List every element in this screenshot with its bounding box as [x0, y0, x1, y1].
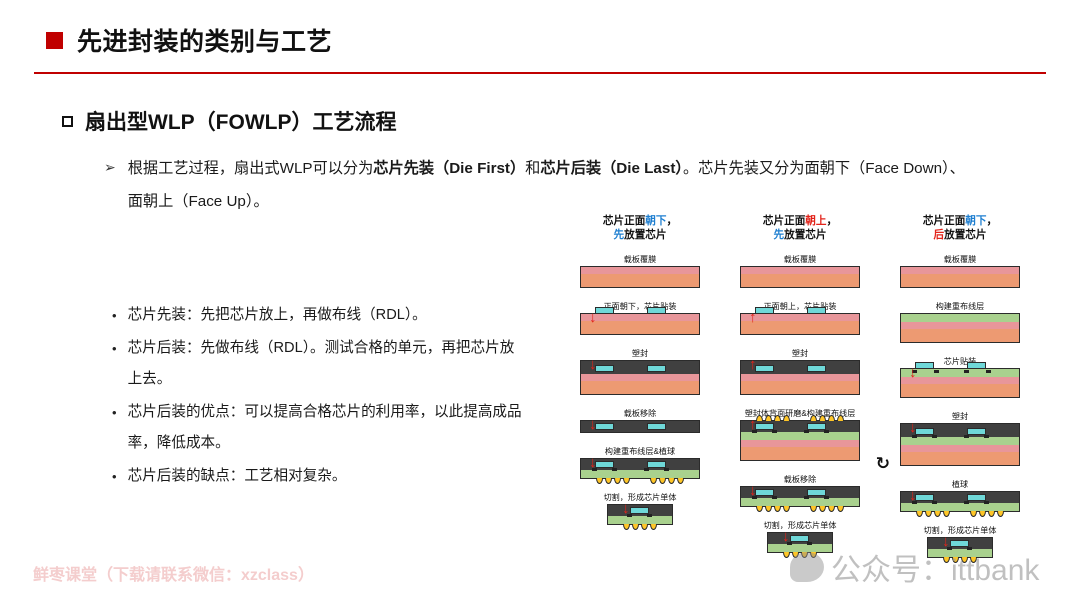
layer-green	[741, 498, 859, 506]
diagram-step: 塑封↑	[726, 348, 874, 395]
dot-bullet-icon: •	[112, 461, 117, 492]
die-block	[595, 461, 614, 468]
column-heading-line1: 芯片正面朝下，	[880, 214, 1040, 228]
layer-stack	[740, 266, 860, 288]
solder-ball-group	[650, 478, 684, 484]
step-label: 构建重布线层	[886, 301, 1034, 312]
die-block	[807, 423, 826, 430]
solder-ball-group	[623, 524, 657, 530]
solder-ball	[943, 511, 950, 517]
solder-ball	[837, 506, 844, 512]
layer-stack: ↓	[900, 491, 1020, 512]
layer-pink	[901, 322, 1019, 329]
die-block	[967, 428, 986, 435]
intro-span-1: 芯片先装（Die First）	[373, 160, 525, 177]
diagram-step: 正面朝上，芯片贴装↑	[726, 301, 874, 335]
die-pad	[932, 435, 937, 438]
dot-bullet-icon: •	[112, 333, 117, 395]
die-block	[755, 307, 774, 314]
layer-orange	[741, 447, 859, 460]
heading-segment: ，	[986, 215, 997, 227]
list-item-text: 芯片先装：先把芯片放上，再做布线（RDL）。	[128, 300, 427, 331]
column-heading-line2: 先放置芯片	[560, 228, 720, 242]
arrow-indicator-icon: ↓	[909, 365, 917, 380]
diagram-step: 载板覆膜	[886, 254, 1034, 288]
solder-ball-group	[756, 506, 790, 512]
die-block	[915, 494, 934, 501]
layer-orange	[901, 452, 1019, 465]
solder-ball	[828, 415, 835, 421]
layer-pink	[901, 377, 1019, 384]
column-heading: 芯片正面朝下，先放置芯片	[560, 214, 720, 242]
layer-pink	[741, 440, 859, 447]
diagram-step: 塑封↓	[566, 348, 714, 395]
layer-stack: ↓	[580, 360, 700, 395]
diagram-step: 塑封体背面研磨&构建重布线层↑	[726, 408, 874, 461]
solder-ball	[783, 506, 790, 512]
dot-bullet-icon: •	[112, 397, 117, 459]
arrow-indicator-icon: ↓	[909, 488, 917, 503]
layer-orange	[581, 321, 699, 334]
layer-stack: ↓	[900, 423, 1020, 466]
layer-orange	[741, 321, 859, 334]
arrow-indicator-icon: ↑	[749, 357, 757, 372]
solder-ball	[988, 511, 995, 517]
step-label: 载板覆膜	[566, 254, 714, 265]
arrow-indicator-icon: ↓	[909, 420, 917, 435]
solder-ball	[774, 506, 781, 512]
die-pad	[964, 501, 969, 504]
heading-segment: 芯片正面	[923, 215, 965, 227]
heading-segment: ，	[826, 215, 837, 227]
arrow-indicator-icon: ↓	[589, 417, 597, 432]
die-block	[915, 362, 934, 369]
arrow-indicator-icon: ↓	[782, 529, 790, 544]
slide: 先进封装的类别与工艺 扇出型WLP（FOWLP）工艺流程 ➢ 根据工艺过程，扇出…	[0, 0, 1080, 608]
layer-orange	[581, 274, 699, 287]
die-block	[647, 423, 666, 430]
solder-ball	[828, 506, 835, 512]
layer-orange	[741, 274, 859, 287]
solder-ball-group	[756, 415, 790, 421]
solder-ball-row	[608, 524, 672, 530]
column-heading-line1: 芯片正面朝下，	[560, 214, 720, 228]
die-block	[807, 489, 826, 496]
solder-ball	[650, 478, 657, 484]
layer-pink	[901, 445, 1019, 452]
die-pad	[824, 496, 829, 499]
layer-stack: ↓	[580, 458, 700, 479]
solder-ball-row	[741, 506, 859, 512]
die-pad	[986, 370, 991, 373]
solder-ball	[837, 415, 844, 421]
step-label: 切割，形成芯片单体	[886, 525, 1034, 536]
solder-ball	[677, 478, 684, 484]
layer-stack: ↑	[740, 420, 860, 461]
heading-segment: 朝下	[645, 215, 666, 227]
arrow-indicator-icon: ↓	[622, 501, 630, 516]
arrow-indicator-icon: ↓	[589, 310, 597, 325]
diagram-step: 载板覆膜	[726, 254, 874, 288]
solder-ball	[783, 552, 790, 558]
die-block	[647, 365, 666, 372]
header-divider	[34, 72, 1046, 74]
solder-ball	[916, 511, 923, 517]
layer-pink	[901, 267, 1019, 274]
die-block	[967, 494, 986, 501]
heading-segment: 放置芯片	[624, 229, 666, 241]
intro-paragraph: ➢ 根据工艺过程，扇出式WLP可以分为芯片先装（Die First）和芯片后装（…	[104, 152, 974, 218]
diagram-step: 塑封↓	[886, 411, 1034, 466]
layer-pink	[741, 267, 859, 274]
solder-ball	[997, 511, 1004, 517]
die-pad	[644, 468, 649, 471]
footer-brand: 鲜枣课堂（下载请联系微信：xzclass）	[33, 561, 314, 585]
die-block	[755, 365, 774, 372]
die-block	[647, 461, 666, 468]
step-label: 切割，形成芯片单体	[566, 492, 714, 503]
die-block	[915, 428, 934, 435]
heading-segment: 放置芯片	[944, 229, 986, 241]
speech-bubble-icon	[790, 552, 824, 582]
layer-stack	[580, 266, 700, 288]
layer-stack: ↓	[607, 504, 673, 525]
die-pad	[772, 496, 777, 499]
solder-ball	[819, 506, 826, 512]
die-pad	[934, 370, 939, 373]
solder-ball	[605, 478, 612, 484]
solder-ball	[659, 478, 666, 484]
layer-stack: ↑	[740, 313, 860, 335]
heading-segment: 后	[934, 229, 945, 241]
solder-ball-group	[596, 478, 630, 484]
layer-green	[741, 432, 859, 440]
die-pad	[804, 430, 809, 433]
die-pad	[647, 514, 652, 517]
diagram-step: 载板移除↓	[566, 408, 714, 433]
heading-segment: 放置芯片	[784, 229, 826, 241]
layer-green	[901, 437, 1019, 445]
list-item-text: 芯片后装的优点：可以提高合格芯片的利用率，以此提高成品率，降低成本。	[128, 397, 522, 459]
heading-segment: 芯片正面	[603, 215, 645, 227]
page-title: 先进封装的类别与工艺	[77, 22, 332, 58]
die-block	[595, 423, 614, 430]
die-pad	[772, 430, 777, 433]
solder-ball	[632, 524, 639, 530]
solder-ball-row-top	[741, 415, 859, 421]
solder-ball	[623, 524, 630, 530]
die-pad	[984, 435, 989, 438]
solder-ball	[756, 415, 763, 421]
list-item: •芯片后装的缺点：工艺相对复杂。	[112, 461, 522, 492]
list-item: •芯片后装的优点：可以提高合格芯片的利用率，以此提高成品率，降低成本。	[112, 397, 522, 459]
section-title: 扇出型WLP（FOWLP）工艺流程	[85, 106, 396, 136]
heading-segment: 朝上	[805, 215, 826, 227]
die-block	[967, 362, 986, 369]
solder-ball	[623, 478, 630, 484]
layer-green	[901, 503, 1019, 511]
bullet-list: •芯片先装：先把芯片放上，再做布线（RDL）。•芯片后装：先做布线（RDL）。测…	[112, 300, 522, 494]
layer-pink	[741, 374, 859, 381]
die-block	[595, 365, 614, 372]
arrow-indicator-icon: ↓	[589, 357, 597, 372]
column-heading-line1: 芯片正面朝上，	[720, 214, 880, 228]
arrow-indicator-icon: ↑	[749, 417, 757, 432]
die-block	[630, 507, 649, 514]
dot-bullet-icon: •	[112, 300, 117, 331]
layer-green	[608, 516, 672, 524]
layer-stack: ↑	[740, 360, 860, 395]
step-label: 切割，形成芯片单体	[726, 520, 874, 531]
solder-ball	[650, 524, 657, 530]
list-item-text: 芯片后装的缺点：工艺相对复杂。	[128, 461, 347, 492]
die-block	[807, 365, 826, 372]
slide-header: 先进封装的类别与工艺	[46, 22, 332, 58]
header-square-icon	[46, 32, 63, 49]
layer-stack: ↓	[740, 486, 860, 507]
layer-pink	[741, 314, 859, 321]
column-heading: 芯片正面朝上，先放置芯片	[720, 214, 880, 242]
section-square-icon	[62, 116, 73, 127]
die-pad	[612, 468, 617, 471]
arrow-bullet-icon: ➢	[104, 152, 116, 218]
layer-green	[901, 314, 1019, 322]
section-header: 扇出型WLP（FOWLP）工艺流程	[62, 106, 396, 136]
solder-ball-group	[970, 511, 1004, 517]
diagram-step: 正面朝下，芯片贴装↓	[566, 301, 714, 335]
layer-orange	[901, 384, 1019, 397]
solder-ball	[979, 511, 986, 517]
solder-ball	[668, 478, 675, 484]
layer-pink	[581, 267, 699, 274]
solder-ball-group	[916, 511, 950, 517]
arrow-indicator-icon: ↓	[749, 483, 757, 498]
layer-stack: ↓	[900, 368, 1020, 398]
solder-ball	[810, 506, 817, 512]
solder-ball	[756, 506, 763, 512]
solder-ball	[783, 415, 790, 421]
heading-segment: 先	[614, 229, 625, 241]
layer-orange	[581, 381, 699, 394]
diagram-step: 植球↓	[886, 479, 1034, 512]
diagram-step: 芯片贴装↓	[886, 356, 1034, 398]
solder-ball	[614, 478, 621, 484]
die-block	[790, 535, 809, 542]
layer-stack: ↓	[580, 420, 700, 433]
arrow-indicator-icon: ↓	[589, 455, 597, 470]
solder-ball	[641, 524, 648, 530]
die-block	[755, 423, 774, 430]
diagram-step: 构建重布线层&植球↓	[566, 446, 714, 479]
solder-ball	[819, 415, 826, 421]
list-item-text: 芯片后装：先做布线（RDL）。测试合格的单元，再把芯片放上去。	[128, 333, 522, 395]
layer-orange	[901, 274, 1019, 287]
die-pad	[804, 496, 809, 499]
solder-ball	[970, 511, 977, 517]
die-block	[807, 307, 826, 314]
diagram-column-0: 芯片正面朝下，先放置芯片载板覆膜正面朝下，芯片贴装↓塑封↓载板移除↓构建重布线层…	[560, 214, 720, 604]
layer-stack: ↓	[580, 313, 700, 335]
solder-ball-row	[581, 478, 699, 484]
layer-orange	[901, 329, 1019, 342]
intro-span-0: 根据工艺过程，扇出式WLP可以分为	[128, 160, 374, 177]
layer-orange	[741, 381, 859, 394]
die-block	[595, 307, 614, 314]
solder-ball	[925, 511, 932, 517]
diagram-step: 构建重布线层	[886, 301, 1034, 343]
arrow-indicator-icon: ↑	[749, 310, 757, 325]
solder-ball-group	[810, 415, 844, 421]
diagram-step: 切割，形成芯片单体↓	[566, 492, 714, 525]
heading-segment: 芯片正面	[763, 215, 805, 227]
layer-pink	[581, 314, 699, 321]
solder-ball	[596, 478, 603, 484]
layer-green	[901, 369, 1019, 377]
watermark: 公众号：ittbank	[790, 545, 1039, 589]
intro-text: 根据工艺过程，扇出式WLP可以分为芯片先装（Die First）和芯片后装（Di…	[128, 152, 974, 218]
solder-ball	[765, 506, 772, 512]
solder-ball	[934, 511, 941, 517]
solder-ball	[774, 415, 781, 421]
die-block	[647, 307, 666, 314]
heading-segment: 朝下	[965, 215, 986, 227]
step-label: 载板覆膜	[726, 254, 874, 265]
solder-ball-row	[901, 511, 1019, 517]
die-pad	[664, 468, 669, 471]
die-pad	[984, 501, 989, 504]
die-pad	[964, 370, 969, 373]
intro-span-3: 芯片后装（Die Last）	[540, 160, 683, 177]
layer-pink	[581, 374, 699, 381]
column-heading-line2: 先放置芯片	[720, 228, 880, 242]
die-pad	[964, 435, 969, 438]
diagram-step: 载板移除↻↓	[726, 474, 874, 507]
watermark-text: 公众号：ittbank	[831, 545, 1039, 589]
list-item: •芯片先装：先把芯片放上，再做布线（RDL）。	[112, 300, 522, 331]
die-pad	[932, 501, 937, 504]
die-pad	[824, 430, 829, 433]
diagram-step: 载板覆膜	[566, 254, 714, 288]
layer-stack	[900, 266, 1020, 288]
layer-stack	[900, 313, 1020, 343]
heading-segment: ，	[666, 215, 677, 227]
heading-segment: 先	[774, 229, 785, 241]
column-heading: 芯片正面朝下，后放置芯片	[880, 214, 1040, 242]
die-block	[755, 489, 774, 496]
step-label: 载板覆膜	[886, 254, 1034, 265]
intro-span-2: 和	[525, 160, 540, 177]
layer-green	[581, 470, 699, 478]
list-item: •芯片后装：先做布线（RDL）。测试合格的单元，再把芯片放上去。	[112, 333, 522, 395]
solder-ball	[765, 415, 772, 421]
solder-ball	[810, 415, 817, 421]
solder-ball-group	[810, 506, 844, 512]
column-heading-line2: 后放置芯片	[880, 228, 1040, 242]
